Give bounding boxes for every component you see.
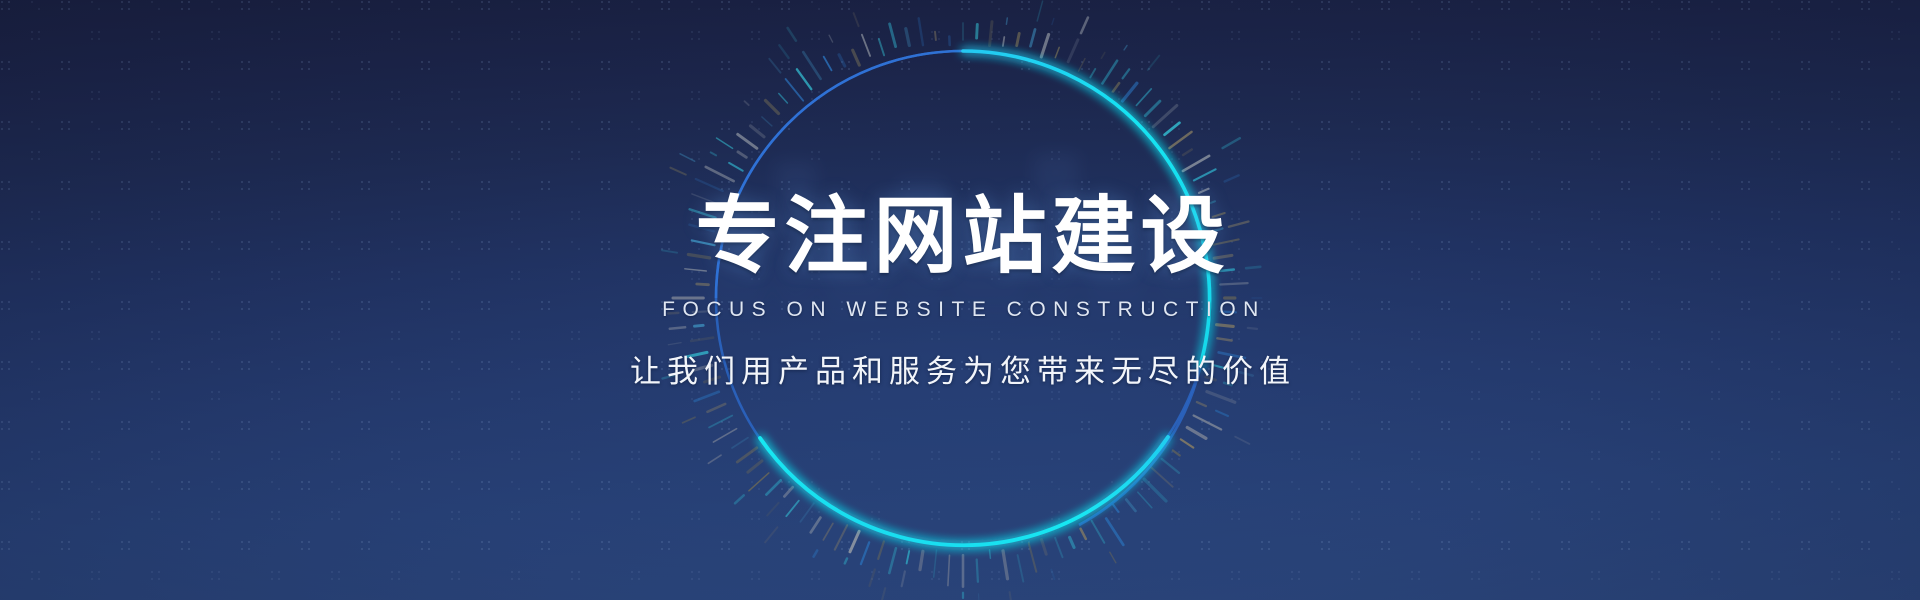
hero-banner: 专注网站建设 FOCUS ON WEBSITE CONSTRUCTION 让我们… — [0, 0, 1920, 600]
page-title: 专注网站建设 — [624, 194, 1296, 278]
banner-copy: 专注网站建设 FOCUS ON WEBSITE CONSTRUCTION 让我们… — [0, 0, 1920, 600]
tagline: 让我们用产品和服务为您带来无尽的价值 — [624, 346, 1296, 391]
subtitle-english: FOCUS ON WEBSITE CONSTRUCTION — [624, 298, 1296, 322]
